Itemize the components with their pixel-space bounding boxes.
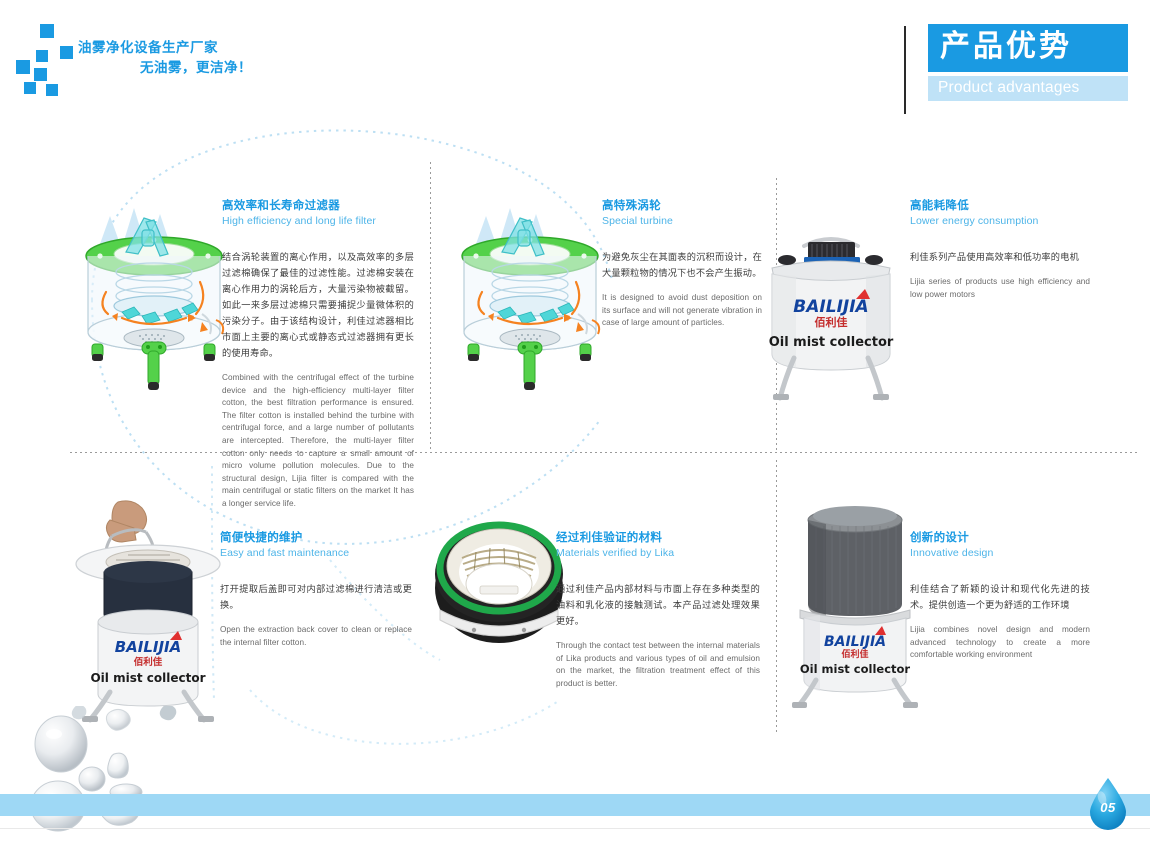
feature-heading-en: Innovative design: [910, 546, 1090, 560]
feature-body-cn: 结合涡轮装置的离心作用，以及高效率的多层过滤棉确保了最佳的过滤性能。过滤棉安装在…: [222, 250, 414, 362]
transparent-turbine-collector-icon: [452, 196, 608, 396]
svg-text:佰利佳: 佰利佳: [815, 315, 848, 329]
page-title-cn: 产品优势: [928, 24, 1128, 72]
feature-body-cn: 打开提取后盖即可对内部过滤棉进行清洁或更换。: [220, 582, 412, 614]
footer-blue-bar: [0, 794, 1150, 816]
feature-body-en: It is designed to avoid dust deposition …: [602, 292, 762, 330]
feature-heading-en: Easy and fast maintenance: [220, 546, 412, 560]
svg-text:BAILIJIA: BAILIJIA: [793, 297, 868, 317]
feature-body-en: Combined with the centrifugal effect of …: [222, 372, 414, 511]
feature-heading-cn: 经过利佳验证的材料: [556, 530, 760, 545]
feature-block-easy-fast-maintenance: 简便快捷的维护 Easy and fast maintenance 打开提取后盖…: [220, 530, 412, 649]
feature-heading-cn: 创新的设计: [910, 530, 1090, 545]
two-stage-oil-mist-collector-icon: BAILIJIA 佰利佳 Oil mist collector: [790, 498, 920, 714]
feature-body-cn: 利佳系列产品使用高效率和低功率的电机: [910, 250, 1090, 266]
feature-body-en: Lijia series of products use high effici…: [910, 276, 1090, 301]
slogan-line-1: 油雾净化设备生产厂家: [78, 38, 408, 58]
feature-heading-en: Lower energy consumption: [910, 214, 1090, 228]
feature-body-en: Lijia combines novel design and modern a…: [910, 624, 1090, 662]
vertical-divider-top-left: [430, 162, 431, 452]
svg-text:Oil mist collector: Oil mist collector: [800, 662, 911, 676]
vertical-divider-bottom-right: [776, 460, 777, 732]
transparent-turbine-collector-icon: [76, 196, 232, 396]
svg-text:Oil mist collector: Oil mist collector: [769, 335, 894, 350]
page-title-en: Product advantages: [928, 76, 1128, 101]
feature-body-cn: 利佳结合了新颖的设计和现代化先进的技术。提供创造一个更为舒适的工作环境: [910, 582, 1090, 614]
figure-transparent-turbine-collector-2: [452, 196, 608, 401]
feature-block-materials-verified: 经过利佳验证的材料 Materials verified by Lika 通过利…: [556, 530, 760, 690]
figure-hand-lifting-filter-lid: BAILIJIA 佰利佳 Oil mist collector: [62, 500, 234, 737]
page-number-droplet-badge: 05: [1086, 776, 1130, 832]
feature-body-en: Through the contact test between the int…: [556, 640, 760, 690]
feature-body-cn: 为避免灰尘在其面表的沉积而设计，在大量颗粒物的情况下也不会产生振动。: [602, 250, 762, 282]
feature-block-special-turbine: 高特殊涡轮 Special turbine 为避免灰尘在其面表的沉积而设计，在大…: [602, 198, 762, 330]
white-oil-mist-collector-icon: BAILIJIA 佰利佳 Oil mist collector: [752, 198, 910, 404]
svg-text:BAILIJIA: BAILIJIA: [824, 634, 886, 650]
feature-block-innovative-design: 创新的设计 Innovative design 利佳结合了新颖的设计和现代化先进…: [910, 530, 1090, 662]
feature-heading-en: Special turbine: [602, 214, 762, 228]
figure-white-oil-mist-collector: BAILIJIA 佰利佳 Oil mist collector: [752, 198, 910, 404]
feature-block-high-efficiency-filter: 高效率和长寿命过滤器 High efficiency and long life…: [222, 198, 414, 511]
feature-heading-cn: 高特殊涡轮: [602, 198, 762, 213]
feature-heading-cn: 高能耗降低: [910, 198, 1090, 213]
page-number: 05: [1086, 800, 1130, 815]
svg-text:佰利佳: 佰利佳: [841, 648, 868, 660]
svg-text:BAILIJIA: BAILIJIA: [115, 638, 182, 656]
company-logo-icon: [14, 24, 84, 90]
page-title: 产品优势 Product advantages: [928, 24, 1128, 101]
feature-body-en: Open the extraction back cover to clean …: [220, 624, 412, 649]
svg-text:Oil mist collector: Oil mist collector: [90, 671, 205, 685]
feature-heading-cn: 简便快捷的维护: [220, 530, 412, 545]
feature-heading-cn: 高效率和长寿命过滤器: [222, 198, 414, 213]
feature-body-cn: 通过利佳产品内部材料与市面上存在多种类型的油料和乳化液的接触测试。本产品过滤处理…: [556, 582, 760, 630]
feature-heading-en: High efficiency and long life filter: [222, 214, 414, 228]
figure-filter-cartridge: [432, 502, 566, 675]
title-vertical-rule: [904, 26, 906, 114]
figure-transparent-turbine-collector-1: [76, 196, 232, 401]
company-slogan: 油雾净化设备生产厂家 无油雾，更洁净！: [78, 38, 408, 78]
hand-lifting-filter-lid-icon: BAILIJIA 佰利佳 Oil mist collector: [62, 500, 234, 732]
feature-block-lower-energy-consumption: 高能耗降低 Lower energy consumption 利佳系列产品使用高…: [910, 198, 1090, 301]
footer-thin-line: [0, 828, 1150, 829]
slogan-line-2: 无油雾，更洁净！: [78, 58, 408, 78]
product-advantages-page: 油雾净化设备生产厂家 无油雾，更洁净！ 产品优势 Product advanta…: [0, 0, 1150, 844]
decorative-water-droplets-icon: [18, 706, 208, 844]
figure-two-stage-oil-mist-collector: BAILIJIA 佰利佳 Oil mist collector: [790, 498, 920, 719]
filter-cartridge-green-ring-icon: [432, 502, 566, 670]
feature-heading-en: Materials verified by Lika: [556, 546, 760, 560]
svg-text:佰利佳: 佰利佳: [134, 656, 163, 668]
